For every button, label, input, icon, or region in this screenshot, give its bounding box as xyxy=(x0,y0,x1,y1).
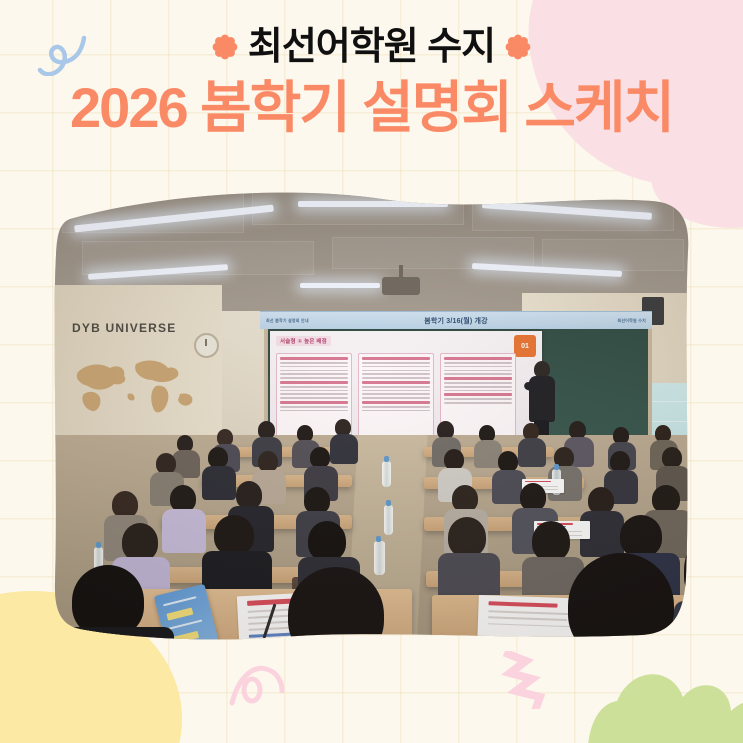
ceiling-panel xyxy=(542,239,684,271)
banner-side-left: 최선 봄학기 설명회 안내 xyxy=(266,318,309,324)
projector xyxy=(382,277,420,295)
ceiling-light xyxy=(300,283,380,288)
banner-side-right: 최선어학원 수지 xyxy=(618,318,646,324)
banner-main-text: 봄학기 3/16(월) 개강 xyxy=(424,316,488,326)
stage-banner: 최선 봄학기 설명회 안내 봄학기 3/16(월) 개강 최선어학원 수지 xyxy=(260,311,652,329)
slide-column xyxy=(358,353,434,445)
ceiling-light xyxy=(298,201,448,207)
slide-title: 서술형 ① 높은 배점 xyxy=(276,336,331,346)
seminar-photo: DYB UNIVERSE ENGLISH THE WINDOW DYB. UNI… xyxy=(52,185,692,648)
world-map-decal xyxy=(70,350,200,420)
water-bottle xyxy=(382,461,391,487)
headline-line-2: 2026 봄학기 설명회 스케치 xyxy=(0,79,743,138)
water-bottle xyxy=(374,541,385,575)
pink-zigzag-doodle xyxy=(500,651,552,709)
promo-card: 최선어학원 수지 2026 봄학기 설명회 스케치 xyxy=(0,0,743,743)
dyb-universe-wall-text: DYB UNIVERSE xyxy=(72,321,176,335)
headline-block: 최선어학원 수지 2026 봄학기 설명회 스케치 xyxy=(0,28,743,138)
headline-line-1-text: 최선어학원 수지 xyxy=(248,28,495,66)
slide-badge: 01 xyxy=(514,335,536,357)
flower-icon xyxy=(212,34,238,60)
headline-line-1: 최선어학원 수지 xyxy=(0,28,743,66)
green-bush-shape xyxy=(579,643,743,743)
flower-icon xyxy=(505,34,531,60)
water-bottle xyxy=(384,505,393,535)
wall-clock xyxy=(194,333,219,358)
photo-scene: DYB UNIVERSE ENGLISH THE WINDOW DYB. UNI… xyxy=(52,185,692,648)
pink-loop-doodle xyxy=(228,661,288,707)
